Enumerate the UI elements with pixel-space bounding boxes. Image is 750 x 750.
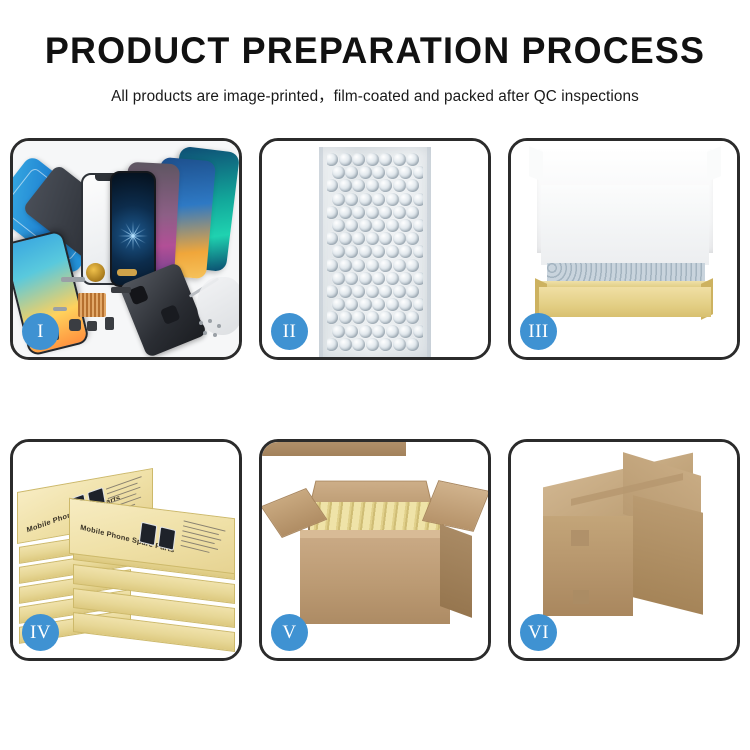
gold-bracket-part-icon: [117, 269, 137, 276]
sealed-carton-side-face: [633, 495, 703, 614]
box-lid-spec-lines: [181, 520, 226, 556]
step-badge-6: VI: [520, 614, 557, 651]
step-badge-1: I: [22, 313, 59, 350]
step-badge-2: II: [271, 313, 308, 350]
mailer-box-front-wall: [539, 287, 711, 317]
sim-tray-part-icon: [105, 317, 114, 330]
bubble-wrap-bubbles: [327, 153, 423, 353]
process-step-1: I: [10, 138, 242, 360]
header: PRODUCT PREPARATION PROCESS All products…: [0, 0, 750, 106]
process-step-grid: I II III: [10, 138, 740, 683]
antenna-strip-part-icon: [53, 307, 67, 311]
camera-module-part-icon: [69, 319, 81, 331]
process-step-5: V: [259, 439, 491, 661]
carton-front-flap: [262, 442, 406, 456]
mailer-box-inner-wall: [541, 185, 709, 265]
carton-flap-notch-top: [571, 530, 589, 546]
screws-group-icon: [199, 319, 225, 339]
process-step-6: VI: [508, 439, 740, 661]
page-subtitle: All products are image-printed，film-coat…: [0, 84, 750, 106]
carton-side-face: [440, 524, 472, 618]
step-badge-5: V: [271, 614, 308, 651]
step-badge-4: IV: [22, 614, 59, 651]
page-title: PRODUCT PREPARATION PROCESS: [11, 32, 739, 71]
speaker-coil-part-icon: [86, 263, 105, 282]
step-badge-3: III: [520, 313, 557, 350]
carton-flap-notch-bottom: [573, 590, 589, 604]
carton-front-face: [300, 538, 450, 624]
flex-cable-part-icon: [61, 277, 85, 282]
connector-part-icon: [111, 287, 131, 293]
process-step-2: II: [259, 138, 491, 360]
process-step-4: Mobile Phone Spare Parts: [10, 439, 242, 661]
copper-shield-part-icon: [78, 293, 106, 317]
screen-burst-graphic: [118, 221, 148, 251]
process-step-3: III: [508, 138, 740, 360]
product-preparation-infographic: PRODUCT PREPARATION PROCESS All products…: [0, 0, 750, 750]
vibrator-part-icon: [87, 321, 97, 331]
